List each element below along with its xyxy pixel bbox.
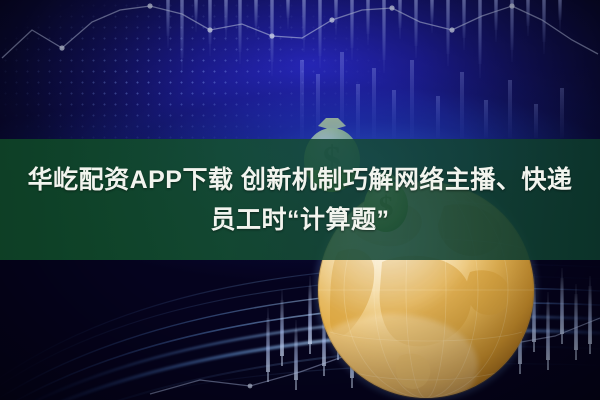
trend-polyline-top	[2, 3, 598, 58]
headline-line-2: 员工时“计算题”	[210, 200, 389, 240]
headline-band: 华屹配资APP下载 创新机制巧解网络主播、快递 员工时“计算题”	[0, 139, 600, 260]
headline-line-1: 华屹配资APP下载 创新机制巧解网络主播、快递	[28, 160, 573, 200]
promo-banner: $ $ 华屹配资APP下载 创新机制巧解网络主播、快递 员工时“计算题”	[0, 0, 600, 400]
candlestick-chart-top	[166, 0, 562, 78]
